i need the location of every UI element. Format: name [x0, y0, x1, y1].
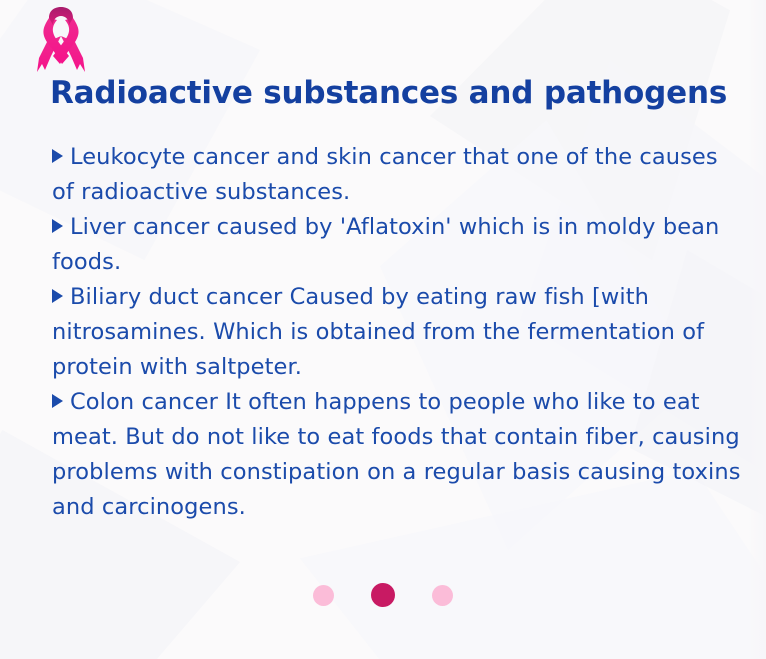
pink-awareness-ribbon-icon: [31, 6, 91, 78]
pagination-dot-2-active[interactable]: [371, 583, 395, 607]
bullet-text: Liver cancer caused by 'Aflatoxin' which…: [52, 214, 719, 275]
bullet-triangle-icon: [52, 394, 63, 408]
pagination-dot-3[interactable]: [432, 585, 453, 606]
bullet-text: Colon cancer It often happens to people …: [52, 389, 741, 520]
slide-title: Radioactive substances and pathogens: [50, 76, 750, 110]
slide-canvas: Radioactive substances and pathogens Leu…: [0, 0, 766, 659]
pagination-dot-1[interactable]: [313, 585, 334, 606]
bullet-item: Liver cancer caused by 'Aflatoxin' which…: [52, 210, 742, 280]
bullet-list: Leukocyte cancer and skin cancer that on…: [52, 140, 742, 525]
bullet-item: Leukocyte cancer and skin cancer that on…: [52, 140, 742, 210]
bullet-item: Colon cancer It often happens to people …: [52, 385, 742, 525]
bullet-triangle-icon: [52, 289, 63, 303]
bullet-text: Leukocyte cancer and skin cancer that on…: [52, 144, 718, 205]
pagination-dots[interactable]: [0, 583, 766, 607]
right-edge-shade: [748, 0, 766, 659]
bullet-text: Biliary duct cancer Caused by eating raw…: [52, 284, 704, 380]
bullet-triangle-icon: [52, 219, 63, 233]
bullet-triangle-icon: [52, 149, 63, 163]
bullet-item: Biliary duct cancer Caused by eating raw…: [52, 280, 742, 385]
